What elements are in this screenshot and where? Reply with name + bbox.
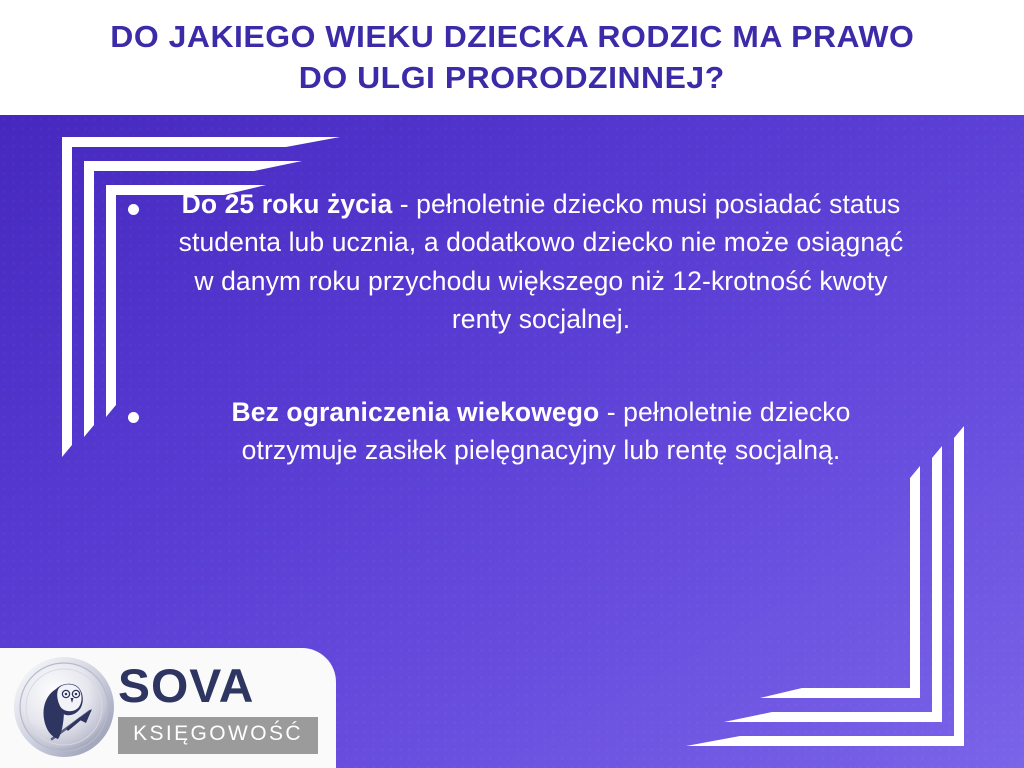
slide: Do 25 roku życia - pełnoletnie dziecko m…: [0, 0, 1024, 768]
logo-wordmark: SOVA: [118, 662, 334, 709]
logo-card: SOVA KSIĘGOWOŚĆ: [0, 648, 336, 768]
logo-textblock: SOVA KSIĘGOWOŚĆ: [118, 662, 330, 754]
bullet-lead: Bez ograniczenia wiekowego: [232, 397, 600, 427]
bullet-text: Do 25 roku życia - pełnoletnie dziecko m…: [170, 185, 912, 339]
list-item: Do 25 roku życia - pełnoletnie dziecko m…: [112, 185, 912, 339]
bullet-dot-icon: [128, 412, 139, 423]
list-item: Bez ograniczenia wiekowego - pełnoletnie…: [112, 393, 912, 470]
bullet-lead: Do 25 roku życia: [182, 189, 393, 219]
owl-medallion-icon: [12, 655, 116, 759]
bullet-text: Bez ograniczenia wiekowego - pełnoletnie…: [170, 393, 912, 470]
header-band: DO JAKIEGO WIEKU DZIECKA RODZIC MA PRAWO…: [0, 0, 1024, 115]
page-title-line-2: DO ULGI PRORODZINNEJ?: [299, 58, 725, 98]
page-title-line-1: DO JAKIEGO WIEKU DZIECKA RODZIC MA PRAWO: [110, 17, 914, 57]
bullet-dot-icon: [128, 204, 139, 215]
logo-subtitle: KSIĘGOWOŚĆ: [118, 717, 318, 754]
bullet-list: Do 25 roku życia - pełnoletnie dziecko m…: [112, 185, 912, 470]
